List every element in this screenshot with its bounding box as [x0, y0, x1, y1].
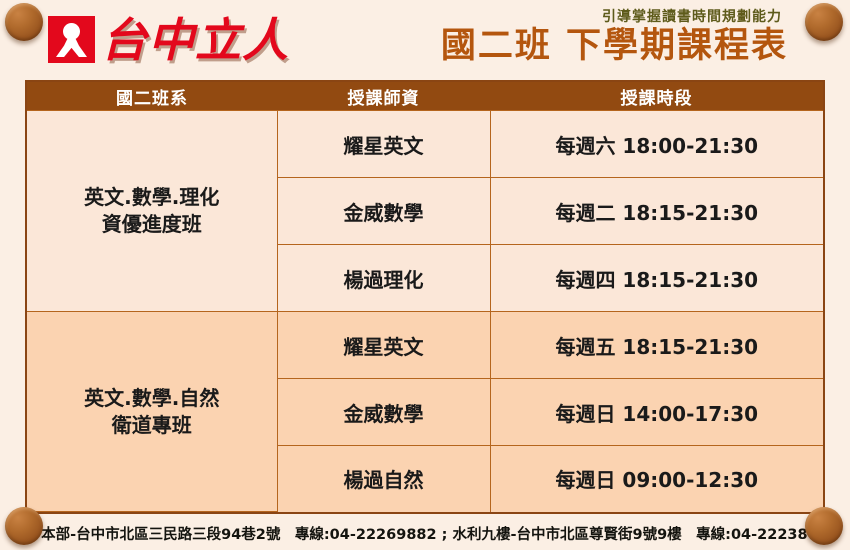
teacher-cell: 耀星英文 [277, 111, 490, 178]
table-row: 英文.數學.自然 衛道專班 耀星英文 每週五 18:15-21:30 [27, 312, 823, 379]
group-label-cell: 英文.數學.理化 資優進度班 [27, 111, 277, 312]
table-header-row: 國二班系 授課師資 授課時段 [27, 82, 823, 111]
group-label-line2: 衛道專班 [27, 412, 277, 439]
group-label-line2: 資優進度班 [27, 211, 277, 238]
brand-logo: 台中立人 [48, 16, 289, 63]
table-row: 英文.數學.理化 資優進度班 耀星英文 每週六 18:00-21:30 [27, 111, 823, 178]
page-subtitle: 引導掌握讀書時間規劃能力 [441, 6, 782, 26]
slot-cell: 每週日 09:00-12:30 [490, 446, 823, 512]
teacher-cell: 楊過理化 [277, 245, 490, 312]
person-body-shape [56, 38, 87, 57]
slot-cell: 每週四 18:15-21:30 [490, 245, 823, 312]
person-mark-icon [48, 16, 95, 63]
schedule-table-frame: 國二班系 授課師資 授課時段 英文.數學.理化 資優進度班 耀星英文 每週六 1… [25, 80, 825, 514]
slot-cell: 每週六 18:00-21:30 [490, 111, 823, 178]
schedule-table-head: 國二班系 授課師資 授課時段 [27, 82, 823, 111]
person-head-shape [63, 23, 80, 40]
corner-bolt-bottom-right [805, 507, 843, 545]
corner-bolt-top-left [5, 3, 43, 41]
slot-cell: 每週二 18:15-21:30 [490, 178, 823, 245]
corner-bolt-bottom-left [5, 507, 43, 545]
page-header: 台中立人 引導掌握讀書時間規劃能力 國二班 下學期課程表 [0, 0, 850, 82]
column-header-slot: 授課時段 [490, 82, 823, 111]
corner-bolt-top-right [805, 3, 843, 41]
title-block: 引導掌握讀書時間規劃能力 國二班 下學期課程表 [441, 4, 788, 65]
column-header-class: 國二班系 [27, 82, 277, 111]
schedule-table-body: 英文.數學.理化 資優進度班 耀星英文 每週六 18:00-21:30 金威數學… [27, 111, 823, 512]
slot-cell: 每週日 14:00-17:30 [490, 379, 823, 446]
teacher-cell: 耀星英文 [277, 312, 490, 379]
group-label-line1: 英文.數學.自然 [27, 385, 277, 412]
teacher-cell: 金威數學 [277, 178, 490, 245]
teacher-cell: 金威數學 [277, 379, 490, 446]
group-label-line1: 英文.數學.理化 [27, 184, 277, 211]
group-label-cell: 英文.數學.自然 衛道專班 [27, 312, 277, 512]
page-title: 國二班 下學期課程表 [441, 28, 788, 65]
column-header-teacher: 授課師資 [277, 82, 490, 111]
schedule-table: 國二班系 授課師資 授課時段 英文.數學.理化 資優進度班 耀星英文 每週六 1… [27, 82, 823, 512]
footer-contact-info: 台中本部-台中市北區三民路三段94巷2號 專線:04-22269882 ; 水利… [0, 523, 850, 544]
teacher-cell: 楊過自然 [277, 446, 490, 512]
brand-logo-text: 台中立人 [101, 17, 289, 63]
slot-cell: 每週五 18:15-21:30 [490, 312, 823, 379]
